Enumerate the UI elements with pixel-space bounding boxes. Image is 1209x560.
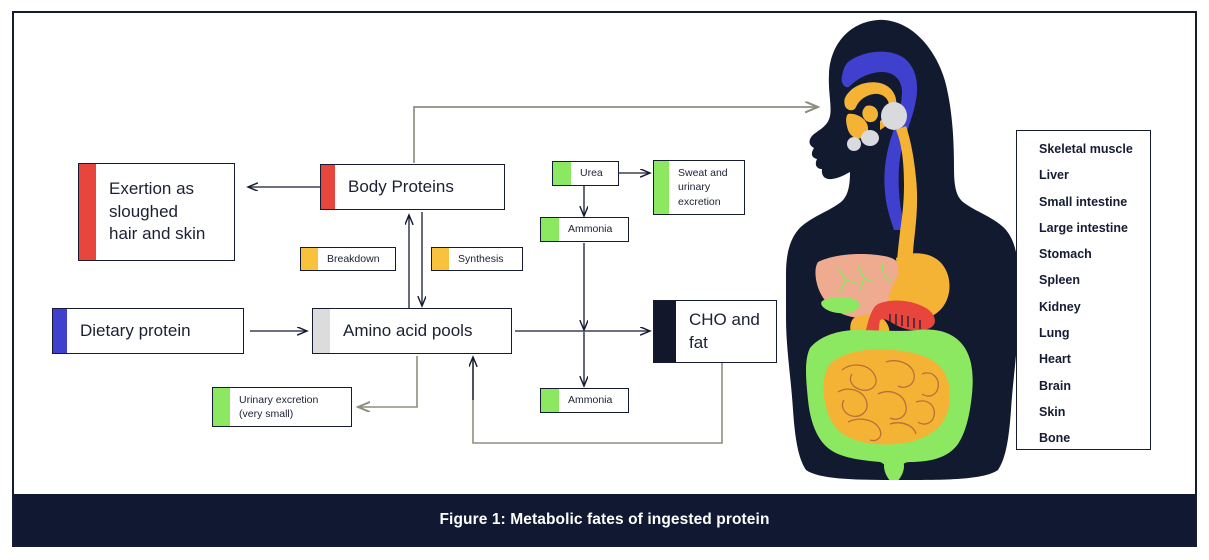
organ-list-item: Skeletal muscle — [1039, 143, 1150, 156]
node-synthesis[interactable]: Synthesis — [431, 247, 523, 271]
figure-caption-text: Figure 1: Metabolic fates of ingested pr… — [439, 511, 769, 529]
arrow-aminoacid-to-urinary — [358, 356, 417, 407]
organ-list-item: Skin — [1039, 406, 1150, 419]
rectum — [884, 455, 904, 480]
node-urinary-excretion[interactable]: Urinary excretion (very small) — [212, 387, 352, 427]
node-label: Body Proteins — [335, 165, 504, 209]
accent-bar — [654, 301, 676, 362]
accent-bar — [541, 218, 559, 241]
node-label: Dietary protein — [67, 309, 243, 353]
organ-list-item: Small intestine — [1039, 196, 1150, 209]
small-intestine — [824, 349, 950, 444]
accent-bar — [213, 388, 230, 426]
accent-bar — [541, 389, 559, 412]
node-urea[interactable]: Urea — [552, 161, 619, 186]
node-amino-acid-pools[interactable]: Amino acid pools — [312, 308, 512, 354]
organ-list-item: Large intestine — [1039, 222, 1150, 235]
organ-list: Skeletal muscle Liver Small intestine La… — [1016, 130, 1151, 450]
node-label: Synthesis — [449, 248, 522, 270]
node-label: Urea — [571, 162, 618, 185]
human-digestive-system-illustration — [786, 18, 1018, 480]
arrow-bodyproteins-to-body — [414, 107, 818, 163]
accent-bar — [553, 162, 571, 185]
accent-bar — [313, 309, 330, 353]
organ-list-item: Bone — [1039, 432, 1150, 445]
organ-list-item: Liver — [1039, 169, 1150, 182]
node-dietary-protein[interactable]: Dietary protein — [52, 308, 244, 354]
node-ammonia-lower[interactable]: Ammonia — [540, 388, 629, 413]
node-body-proteins[interactable]: Body Proteins — [320, 164, 505, 210]
accent-bar — [654, 161, 669, 214]
accent-bar — [53, 309, 67, 353]
node-label: Breakdown — [318, 248, 395, 270]
organ-list-item: Spleen — [1039, 274, 1150, 287]
node-label: Urinary excretion (very small) — [230, 388, 351, 426]
accent-bar — [432, 248, 449, 270]
node-sweat-urinary-excretion[interactable]: Sweat and urinary excretion — [653, 160, 745, 215]
node-exertion[interactable]: Exertion as sloughed hair and skin — [78, 163, 235, 261]
organ-list-item: Kidney — [1039, 301, 1150, 314]
node-cho-and-fat[interactable]: CHO and fat — [653, 300, 777, 363]
node-label: Sweat and urinary excretion — [669, 161, 744, 214]
node-label: Ammonia — [559, 389, 628, 412]
organ-list-item: Stomach — [1039, 248, 1150, 261]
node-label: Ammonia — [559, 218, 628, 241]
node-label: Exertion as sloughed hair and skin — [96, 164, 234, 260]
salivary-gland-submandibular — [861, 130, 879, 146]
node-breakdown[interactable]: Breakdown — [300, 247, 396, 271]
node-label: CHO and fat — [676, 301, 776, 362]
figure-caption-bar: Figure 1: Metabolic fates of ingested pr… — [14, 494, 1195, 545]
node-label: Amino acid pools — [330, 309, 511, 353]
node-ammonia-upper[interactable]: Ammonia — [540, 217, 629, 242]
accent-bar — [79, 164, 96, 260]
organ-list-item: Heart — [1039, 353, 1150, 366]
salivary-gland-sublingual — [847, 137, 861, 151]
accent-bar — [321, 165, 335, 209]
salivary-gland-parotid — [881, 102, 907, 130]
organ-list-item: Brain — [1039, 380, 1150, 393]
organ-list-item: Lung — [1039, 327, 1150, 340]
accent-bar — [301, 248, 318, 270]
figure-panel: Exertion as sloughed hair and skin Body … — [0, 0, 1209, 560]
